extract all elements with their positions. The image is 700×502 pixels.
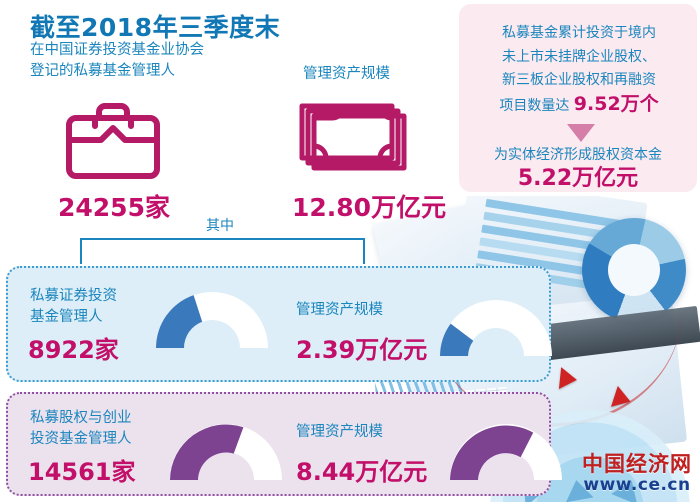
right-caption: 管理资产规模	[303, 64, 390, 85]
highlight-line-2: 未上市未挂牌企业股权、	[502, 49, 656, 65]
equity-manager-value: 14561家	[28, 452, 136, 487]
panel-highlight: 私募基金累计投资于境内 未上市未挂牌企业股权、 新三板企业股权和再融资 项目数量…	[459, 4, 697, 192]
highlight-footer: 为实体经济形成股权资本金 5.22万亿元	[467, 144, 689, 190]
highlight-line-4-prefix: 项目数量达	[499, 98, 569, 114]
highlight-body: 私募基金累计投资于境内 未上市未挂牌企业股权、 新三板企业股权和再融资 项目数量…	[473, 22, 685, 118]
equity-manager-label: 私募股权与创业 投资基金管理人	[30, 408, 132, 450]
securities-aum-value: 2.39万亿元	[296, 330, 427, 365]
highlight-bottom-label: 为实体经济形成股权资本金	[494, 147, 662, 163]
equity-aum-label: 管理资产规模	[296, 422, 383, 443]
securities-manager-label: 私募证券投资 基金管理人	[30, 286, 117, 328]
gauge-securities-managers	[146, 282, 278, 352]
total-managers-value: 24255家	[58, 188, 170, 224]
equity-aum-value: 8.44万亿元	[296, 452, 427, 487]
highlight-line-3: 新三板企业股权和再融资	[502, 72, 656, 88]
gauge-equity-aum	[440, 414, 572, 484]
banknotes-icon	[298, 102, 410, 180]
securities-manager-value: 8922家	[28, 330, 119, 365]
highlight-line-1: 私募基金累计投资于境内	[502, 25, 656, 41]
infographic-canvas: 截至2018年三季度末 在中国证券投资基金业协会 登记的私募基金管理人 管理资产…	[0, 0, 700, 502]
highlight-projects-value: 9.52万个	[574, 93, 659, 115]
photo-red-arrow-icon	[559, 367, 578, 391]
briefcase-icon	[63, 100, 163, 182]
left-caption: 在中国证券投资基金业协会 登记的私募基金管理人	[30, 40, 204, 82]
gauge-securities-aum	[430, 290, 562, 360]
logo-name: 中国经济网	[582, 454, 692, 475]
page-title: 截至2018年三季度末	[30, 8, 280, 44]
total-aum-value: 12.80万亿元	[292, 188, 446, 224]
connector-label: 其中	[206, 215, 234, 235]
gauge-equity-managers	[160, 414, 292, 484]
connector-bracket	[80, 238, 365, 264]
securities-aum-label: 管理资产规模	[296, 300, 383, 321]
highlight-bottom-value: 5.22万亿元	[467, 168, 689, 190]
site-logo[interactable]: 中国经济网 www.ce.cn	[582, 454, 692, 494]
down-triangle-icon	[567, 124, 595, 142]
logo-url: www.ce.cn	[582, 477, 692, 494]
